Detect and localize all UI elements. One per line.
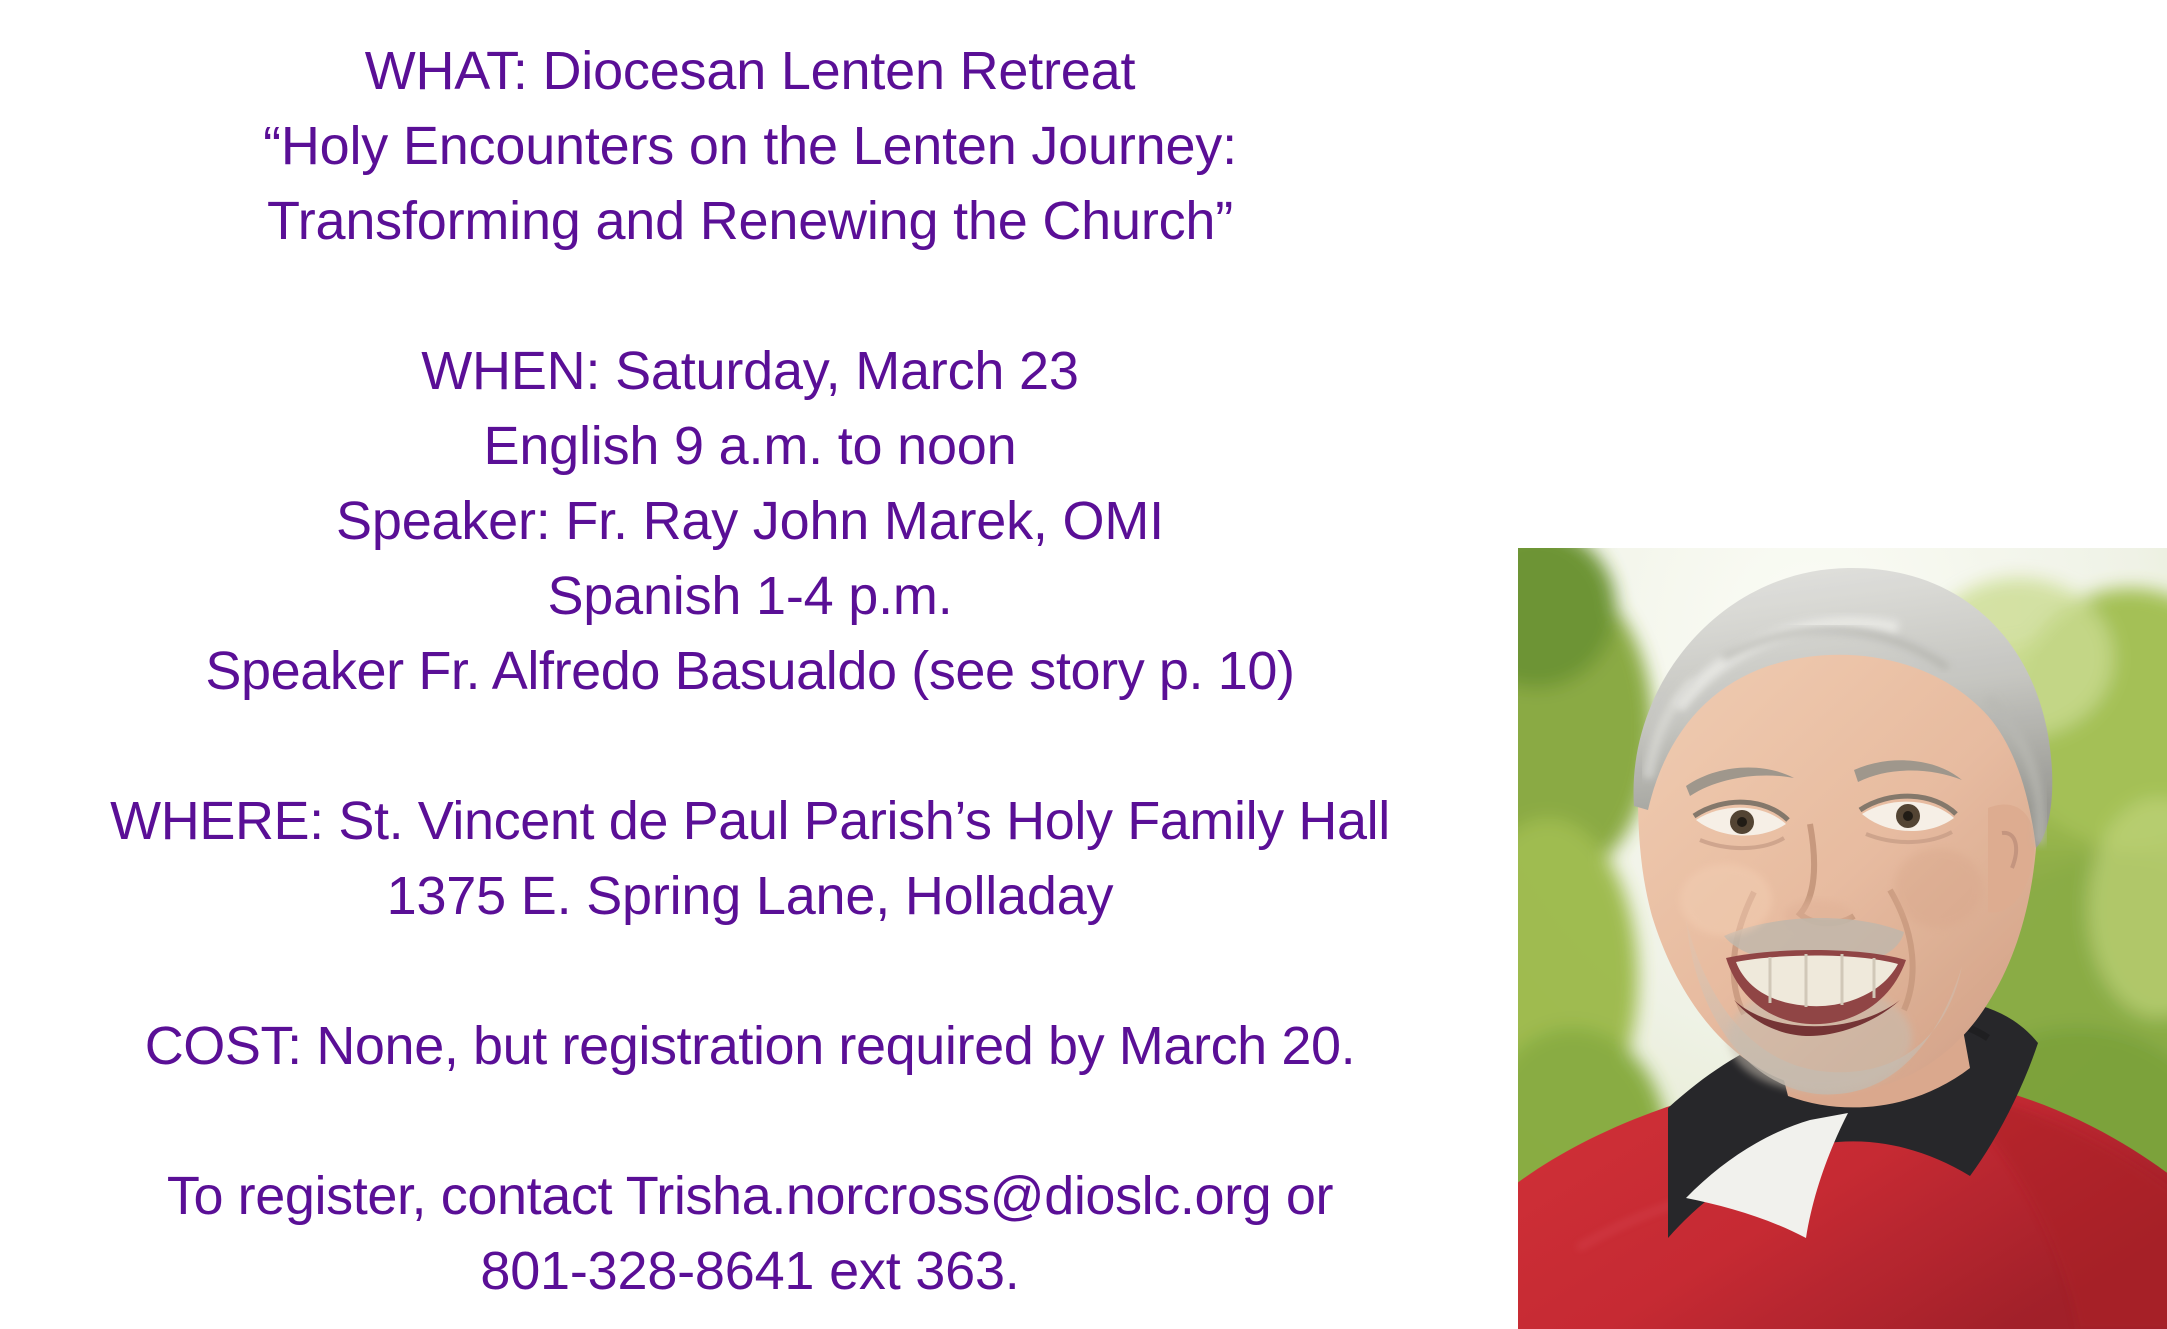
english-session-speaker: Speaker: Fr. Ray John Marek, OMI [0, 484, 1500, 559]
register-section: To register, contact Trisha.norcross@dio… [0, 1159, 1500, 1309]
flyer-text-block: WHAT: Diocesan Lenten Retreat “Holy Enco… [0, 0, 1500, 1329]
what-label: WHAT: Diocesan Lenten Retreat [0, 34, 1500, 109]
when-section: WHEN: Saturday, March 23 English 9 a.m. … [0, 334, 1500, 709]
flyer-canvas: WHAT: Diocesan Lenten Retreat “Holy Enco… [0, 0, 2167, 1329]
register-contact-line: To register, contact Trisha.norcross@dio… [0, 1159, 1500, 1234]
cost-section: COST: None, but registration required by… [0, 1009, 1500, 1084]
english-session-time: English 9 a.m. to noon [0, 409, 1500, 484]
register-phone-line: 801-328-8641 ext 363. [0, 1234, 1500, 1309]
spacer-1 [0, 259, 1500, 334]
where-label: WHERE: St. Vincent de Paul Parish’s Holy… [0, 784, 1500, 859]
where-section: WHERE: St. Vincent de Paul Parish’s Holy… [0, 784, 1500, 934]
spacer-2 [0, 709, 1500, 784]
retreat-title-line-2: Transforming and Renewing the Church” [0, 184, 1500, 259]
what-section: WHAT: Diocesan Lenten Retreat “Holy Enco… [0, 34, 1500, 259]
cost-label: COST: None, but registration required by… [0, 1009, 1500, 1084]
spacer-3 [0, 934, 1500, 1009]
where-address: 1375 E. Spring Lane, Holladay [0, 859, 1500, 934]
spanish-session-time: Spanish 1-4 p.m. [0, 559, 1500, 634]
speaker-portrait-illustration [1518, 548, 2167, 1329]
spacer-4 [0, 1084, 1500, 1159]
spanish-session-speaker: Speaker Fr. Alfredo Basualdo (see story … [0, 634, 1500, 709]
when-label: WHEN: Saturday, March 23 [0, 334, 1500, 409]
retreat-title-line-1: “Holy Encounters on the Lenten Journey: [0, 109, 1500, 184]
speaker-portrait [1518, 548, 2167, 1329]
